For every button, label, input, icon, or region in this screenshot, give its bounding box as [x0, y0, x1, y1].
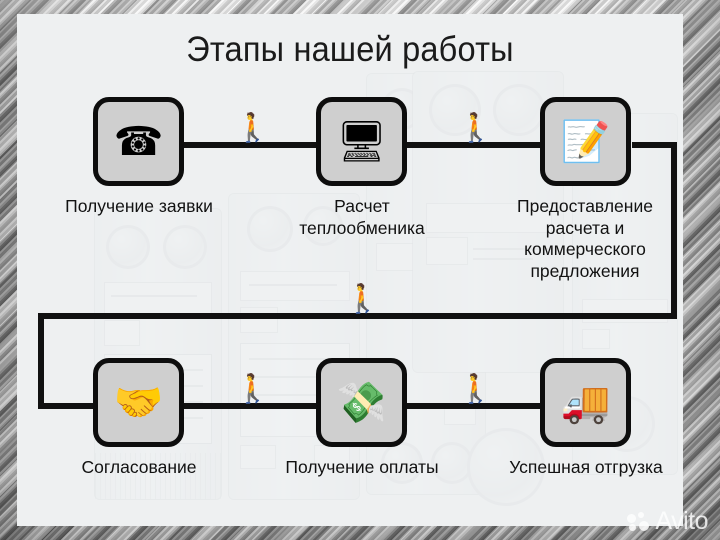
desktop-computer-icon: 🖥	[336, 122, 387, 162]
step-label-3-line2: расчета и	[485, 218, 683, 240]
step-label-6: Успешная отгрузка	[493, 457, 679, 479]
walking-person-icon-3: 🚶	[345, 285, 380, 313]
screenshot-root: Этапы нашей работы ☎ Получение заявки 🖥 …	[0, 0, 720, 540]
step-label-2: Расчет теплообменика	[269, 196, 455, 239]
telephone-icon: ☎	[114, 122, 164, 162]
step-label-5: Получение оплаты	[269, 457, 455, 479]
avito-watermark: Avito	[627, 507, 708, 536]
handshake-icon: 🤝	[114, 383, 164, 423]
connector-left-vertical	[38, 313, 44, 409]
step-label-2-line1: Расчет	[269, 196, 455, 218]
step-box-3[interactable]: 📝	[540, 97, 631, 186]
step-label-2-line2: теплообменика	[269, 218, 455, 240]
page-title: Этапы нашей работы	[40, 30, 659, 70]
memo-pencil-icon: 📝	[561, 122, 611, 162]
step-label-3-line4: предложения	[485, 261, 683, 283]
walking-person-icon-1: 🚶	[235, 114, 270, 142]
walking-person-icon-2: 🚶	[458, 114, 493, 142]
step-box-4[interactable]: 🤝	[93, 358, 184, 447]
step-box-5[interactable]: 💸	[316, 358, 407, 447]
connector-left-to-step4	[38, 403, 100, 409]
step-label-3: Предоставление расчета и коммерческого п…	[485, 196, 683, 282]
step-label-4: Согласование	[46, 457, 232, 479]
infographic-card: Этапы нашей работы ☎ Получение заявки 🖥 …	[17, 14, 683, 526]
step-label-3-line1: Предоставление	[485, 196, 683, 218]
step-label-1: Получение заявки	[31, 196, 247, 218]
delivery-truck-icon: 🚚	[561, 383, 611, 423]
step-label-3-line3: коммерческого	[485, 239, 683, 261]
walking-person-icon-5: 🚶	[458, 375, 493, 403]
walking-person-icon-4: 🚶	[235, 375, 270, 403]
step-box-2[interactable]: 🖥	[316, 97, 407, 186]
avito-logo-icon	[627, 512, 650, 532]
step-box-1[interactable]: ☎	[93, 97, 184, 186]
money-with-wings-icon: 💸	[337, 383, 387, 423]
step-box-6[interactable]: 🚚	[540, 358, 631, 447]
avito-wordmark: Avito	[655, 507, 708, 536]
